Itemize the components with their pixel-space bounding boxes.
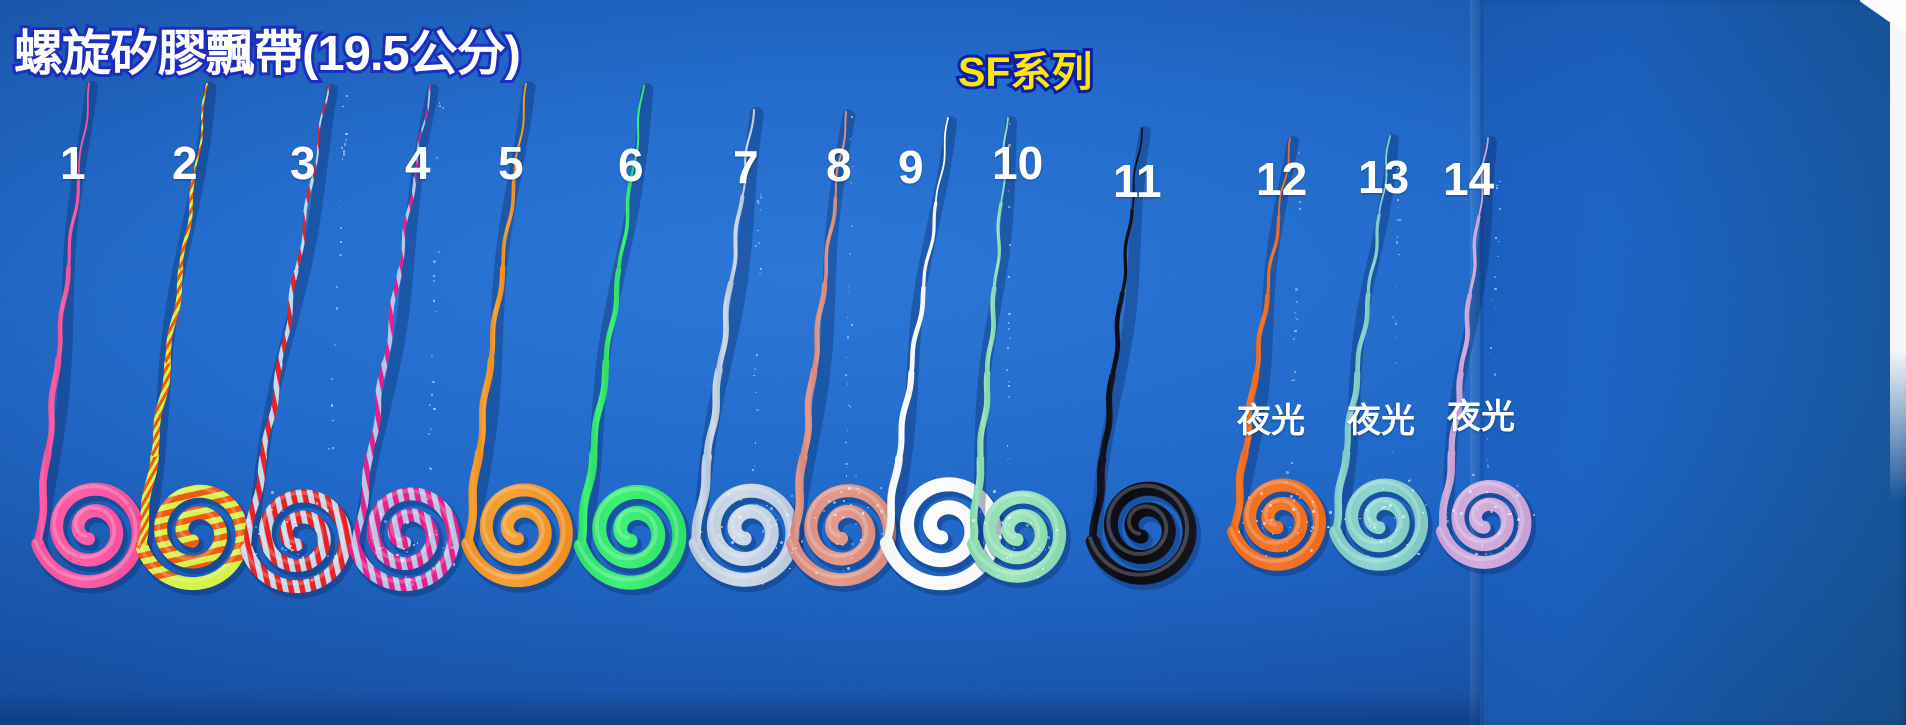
glow-in-dark-label: 夜光 (1347, 404, 1415, 438)
item-number-label-6: 6 (618, 142, 644, 188)
item-number-label-9: 9 (898, 144, 924, 190)
photo-corner-white (1860, 0, 1906, 40)
item-number-label-13: 13 (1358, 154, 1409, 200)
item-number-label-3: 3 (290, 140, 316, 186)
glow-in-dark-label: 夜光 (1447, 400, 1515, 434)
item-number-label-14: 14 (1443, 156, 1494, 202)
item-number-label-8: 8 (826, 142, 852, 188)
item-number-label-1: 1 (60, 140, 86, 186)
item-number-label-2: 2 (172, 140, 198, 186)
ribbon-item-1 (35, 83, 141, 586)
item-number-label-5: 5 (498, 140, 524, 186)
ribbon-illustration-layer (0, 0, 1906, 725)
item-number-label-12: 12 (1256, 156, 1307, 202)
glow-in-dark-label: 夜光 (1237, 404, 1305, 438)
item-number-label-10: 10 (992, 140, 1043, 186)
photo-right-white-edge (1890, 0, 1906, 500)
item-number-label-11: 11 (1113, 158, 1162, 204)
series-title: SF系列 (958, 38, 1092, 98)
page-title: 螺旋矽膠飄帶(19.5公分) (14, 14, 520, 85)
item-number-label-4: 4 (405, 140, 431, 186)
item-number-label-7: 7 (733, 144, 759, 190)
product-photo-canvas: 螺旋矽膠飄帶(19.5公分) SF系列 1234567891011121314夜… (0, 0, 1906, 725)
